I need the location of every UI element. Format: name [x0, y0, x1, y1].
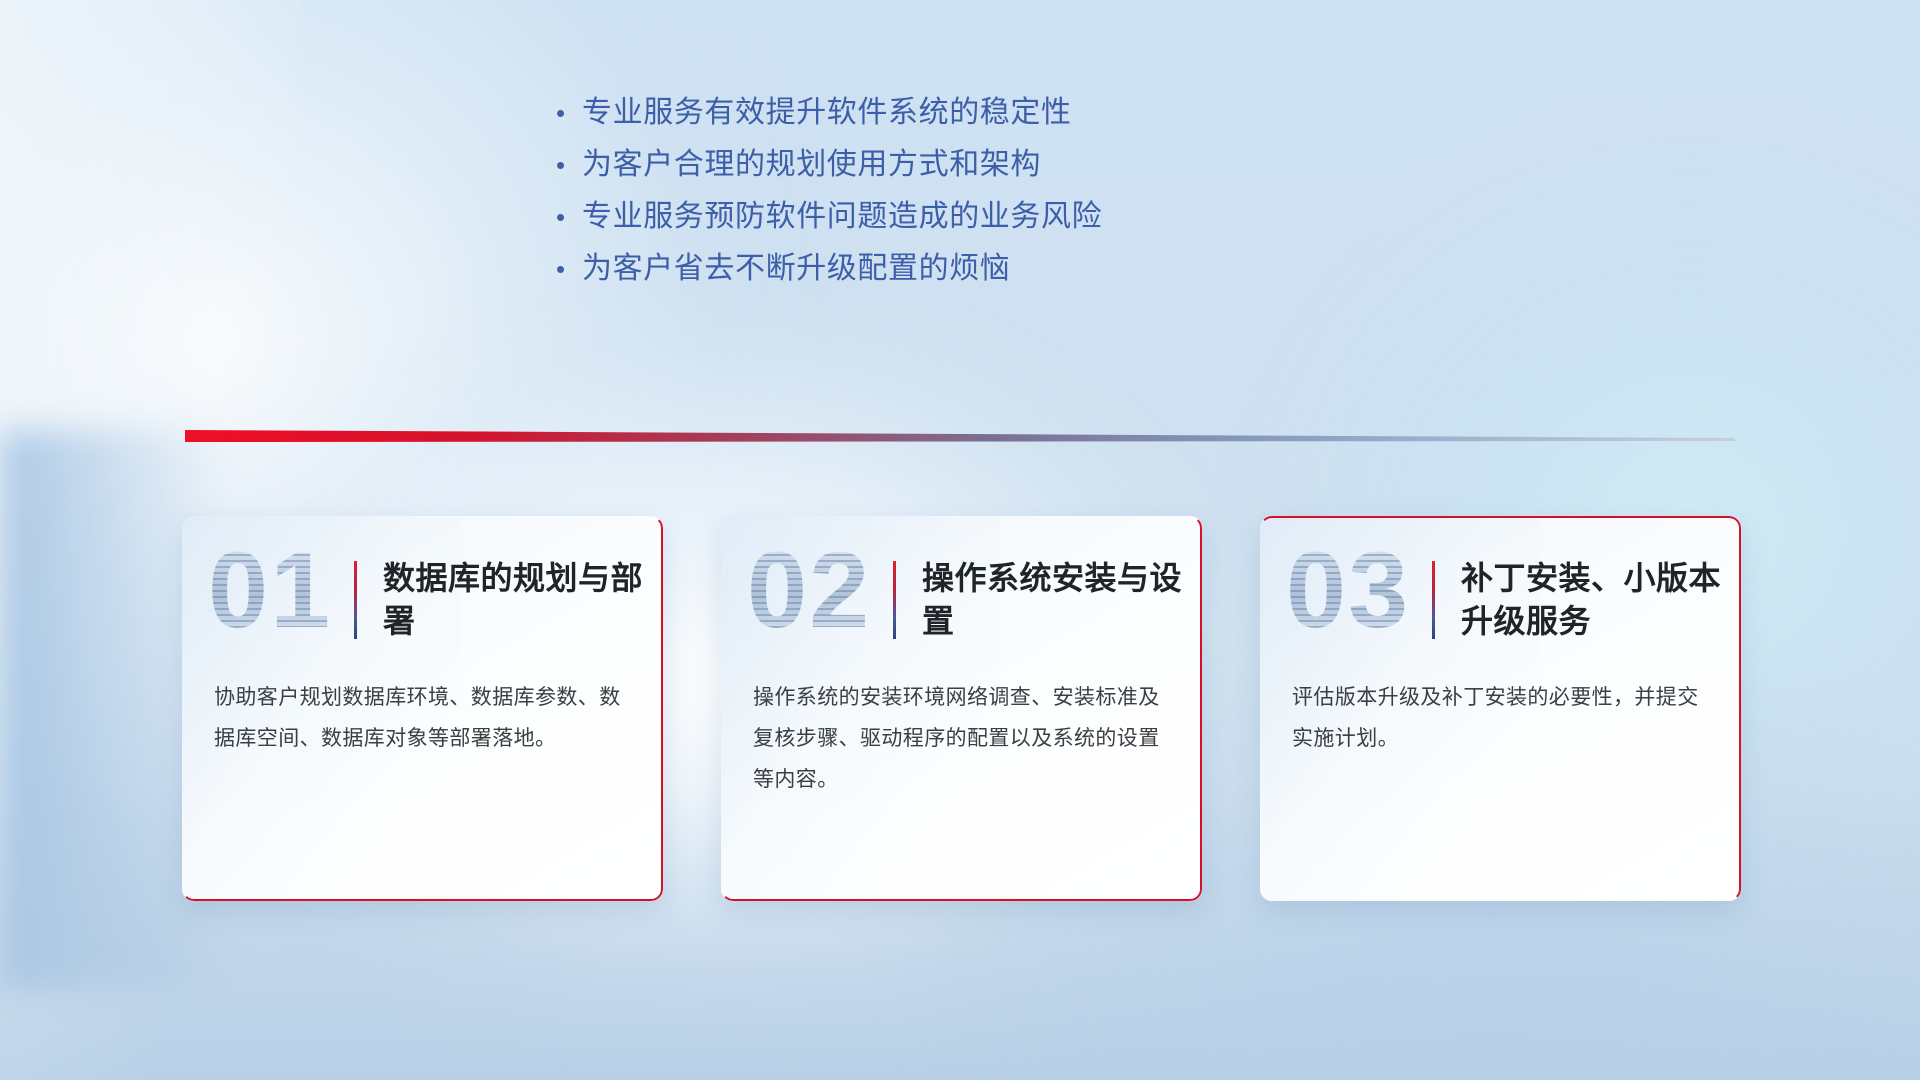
- list-item: • 专业服务预防软件问题造成的业务风险: [556, 202, 1276, 254]
- card-number-text: 01: [208, 536, 332, 644]
- bullet-marker-icon: •: [556, 100, 582, 126]
- bullet-text: 为客户合理的规划使用方式和架构: [582, 150, 1041, 180]
- card-header: 02 操作系统安装与设置: [721, 516, 1202, 666]
- bullet-marker-icon: •: [556, 256, 582, 282]
- card-number-watermark: 02: [747, 542, 879, 658]
- service-card[interactable]: 03 补丁安装、小版本升级服务 评估版本升级及补丁安装的必要性，并提交实施计划。: [1260, 516, 1741, 901]
- card-title-rule: [893, 561, 896, 639]
- list-item: • 为客户合理的规划使用方式和架构: [556, 150, 1276, 202]
- service-card[interactable]: 02 操作系统安装与设置 操作系统的安装环境网络调查、安装标准及复核步骤、驱动程…: [721, 516, 1202, 901]
- card-number-watermark: 01: [208, 542, 340, 658]
- bullet-marker-icon: •: [556, 204, 582, 230]
- card-title: 补丁安装、小版本升级服务: [1461, 557, 1741, 643]
- slide-root: • 专业服务有效提升软件系统的稳定性 • 为客户合理的规划使用方式和架构 • 专…: [0, 0, 1920, 1080]
- benefits-bullet-list: • 专业服务有效提升软件系统的稳定性 • 为客户合理的规划使用方式和架构 • 专…: [556, 98, 1276, 306]
- card-description: 协助客户规划数据库环境、数据库参数、数据库空间、数据库对象等部署落地。: [182, 666, 663, 760]
- service-cards: 01 数据库的规划与部署 协助客户规划数据库环境、数据库参数、数据库空间、数据库…: [182, 516, 1742, 916]
- bullet-text: 专业服务预防软件问题造成的业务风险: [582, 202, 1102, 232]
- card-title-rule: [1432, 561, 1435, 639]
- card-header: 01 数据库的规划与部署: [182, 516, 663, 666]
- section-divider: [185, 420, 1735, 448]
- bullet-marker-icon: •: [556, 152, 582, 178]
- bullet-text: 专业服务有效提升软件系统的稳定性: [582, 98, 1072, 128]
- list-item: • 为客户省去不断升级配置的烦恼: [556, 254, 1276, 306]
- card-description: 操作系统的安装环境网络调查、安装标准及复核步骤、驱动程序的配置以及系统的设置等内…: [721, 666, 1202, 801]
- card-title-rule: [354, 561, 357, 639]
- card-title: 数据库的规划与部署: [383, 557, 663, 643]
- bullet-text: 为客户省去不断升级配置的烦恼: [582, 254, 1010, 284]
- card-number-text: 02: [747, 536, 871, 644]
- card-title: 操作系统安装与设置: [922, 557, 1202, 643]
- card-description: 评估版本升级及补丁安装的必要性，并提交实施计划。: [1260, 666, 1741, 760]
- list-item: • 专业服务有效提升软件系统的稳定性: [556, 98, 1276, 150]
- service-card[interactable]: 01 数据库的规划与部署 协助客户规划数据库环境、数据库参数、数据库空间、数据库…: [182, 516, 663, 901]
- card-number-watermark: 03: [1286, 542, 1418, 658]
- card-number-text: 03: [1286, 536, 1410, 644]
- card-header: 03 补丁安装、小版本升级服务: [1260, 516, 1741, 666]
